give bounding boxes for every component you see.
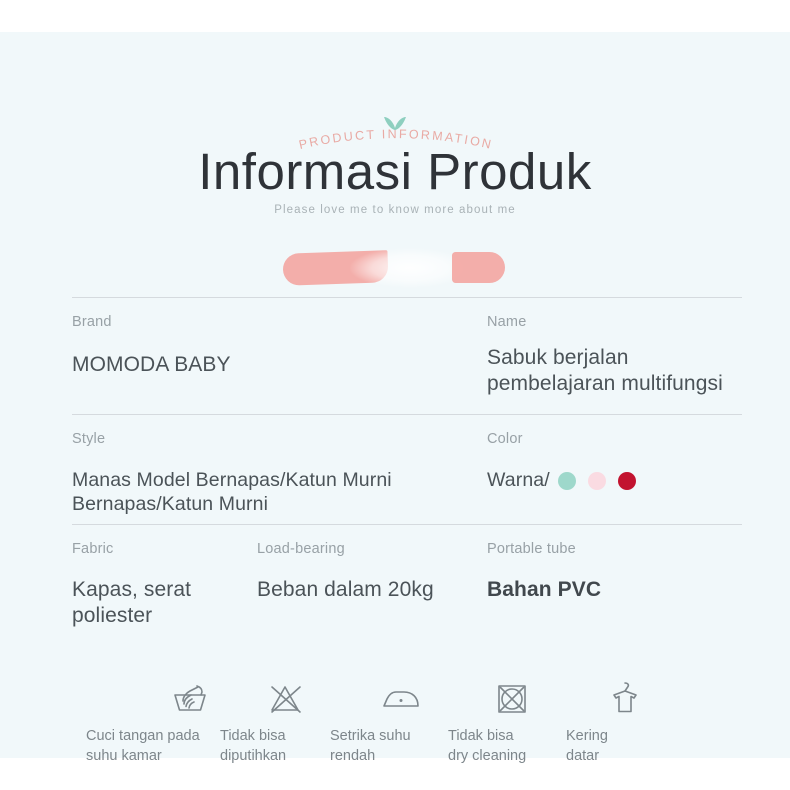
spec-cell-portable-tube: Portable tube Bahan PVC [487,541,742,646]
spec-label: Color [487,431,742,447]
care-item-label: Tidak bisa dry cleaning [448,727,526,766]
color-swatch-mint[interactable] [558,472,576,490]
spec-cell-name: Name Sabuk berjalan pembelajaran multifu… [487,314,742,414]
care-item: Tidak bisa dry cleaning [448,677,566,766]
iron-low-heat-icon [380,677,422,721]
spec-value: Manas Model Bernapas/Katun Murni Bernapa… [72,469,487,517]
header: PRODUCT INFORMATION Informasi Produk Ple… [0,32,790,262]
care-item-label: Cuci tangan pada suhu kamar [86,727,200,766]
spec-label: Name [487,314,742,330]
care-item-label: Tidak bisa diputihkan [220,727,286,766]
care-item-label: Setrika suhu rendah [330,727,411,766]
no-dry-clean-icon [495,677,529,721]
spec-value: Beban dalam 20kg [257,577,487,603]
spec-label: Portable tube [487,541,742,557]
spec-cell-brand: Brand MOMODA BABY [72,314,487,414]
care-instructions: Cuci tangan pada suhu kamar Tidak bisa d… [72,677,742,766]
color-swatch-light-pink[interactable] [588,472,606,490]
spec-value: Bahan PVC [487,577,742,603]
spec-value: Warna/ [487,469,550,493]
color-swatch-row: Warna/ [487,469,742,493]
spec-cell-fabric: Fabric Kapas, serat poliester [72,541,257,646]
page-subtitle: Please love me to know more about me [0,204,790,216]
care-item: Cuci tangan pada suhu kamar [72,677,220,766]
leaf-check-icon [382,115,408,131]
spec-row-fabric: Fabric Kapas, serat poliester Load-beari… [72,525,742,646]
spec-value: Sabuk berjalan pembelajaran multifungsi [487,345,742,396]
spec-label: Fabric [72,541,257,557]
spec-table: Brand MOMODA BABY Name Sabuk berjalan pe… [72,297,742,646]
product-information-page: PRODUCT INFORMATION Informasi Produk Ple… [0,0,790,790]
care-item: Tidak bisa diputihkan [220,677,330,766]
spec-value: Kapas, serat poliester [72,577,257,628]
care-item: Setrika suhu rendah [330,677,448,766]
care-item-label: Kering datar [566,727,608,766]
do-not-bleach-icon [267,677,303,721]
spec-label: Load-bearing [257,541,487,557]
spec-cell-style: Style Manas Model Bernapas/Katun Murni B… [72,431,487,524]
care-item: Kering datar [566,677,666,766]
page-canvas: PRODUCT INFORMATION Informasi Produk Ple… [0,32,790,758]
spec-label: Brand [72,314,487,330]
color-swatch-crimson[interactable] [618,472,636,490]
spec-label: Style [72,431,487,447]
dry-flat-icon [607,677,643,721]
ornament-divider [0,222,790,266]
spec-cell-load-bearing: Load-bearing Beban dalam 20kg [257,541,487,646]
page-title: Informasi Produk [0,142,790,201]
spec-value: MOMODA BABY [72,352,487,378]
hand-wash-icon [170,677,210,721]
spec-row-style: Style Manas Model Bernapas/Katun Murni B… [72,415,742,524]
spec-row-brand: Brand MOMODA BABY Name Sabuk berjalan pe… [72,298,742,414]
ornament-petal-right [452,252,505,283]
spec-cell-color: Color Warna/ [487,431,742,524]
